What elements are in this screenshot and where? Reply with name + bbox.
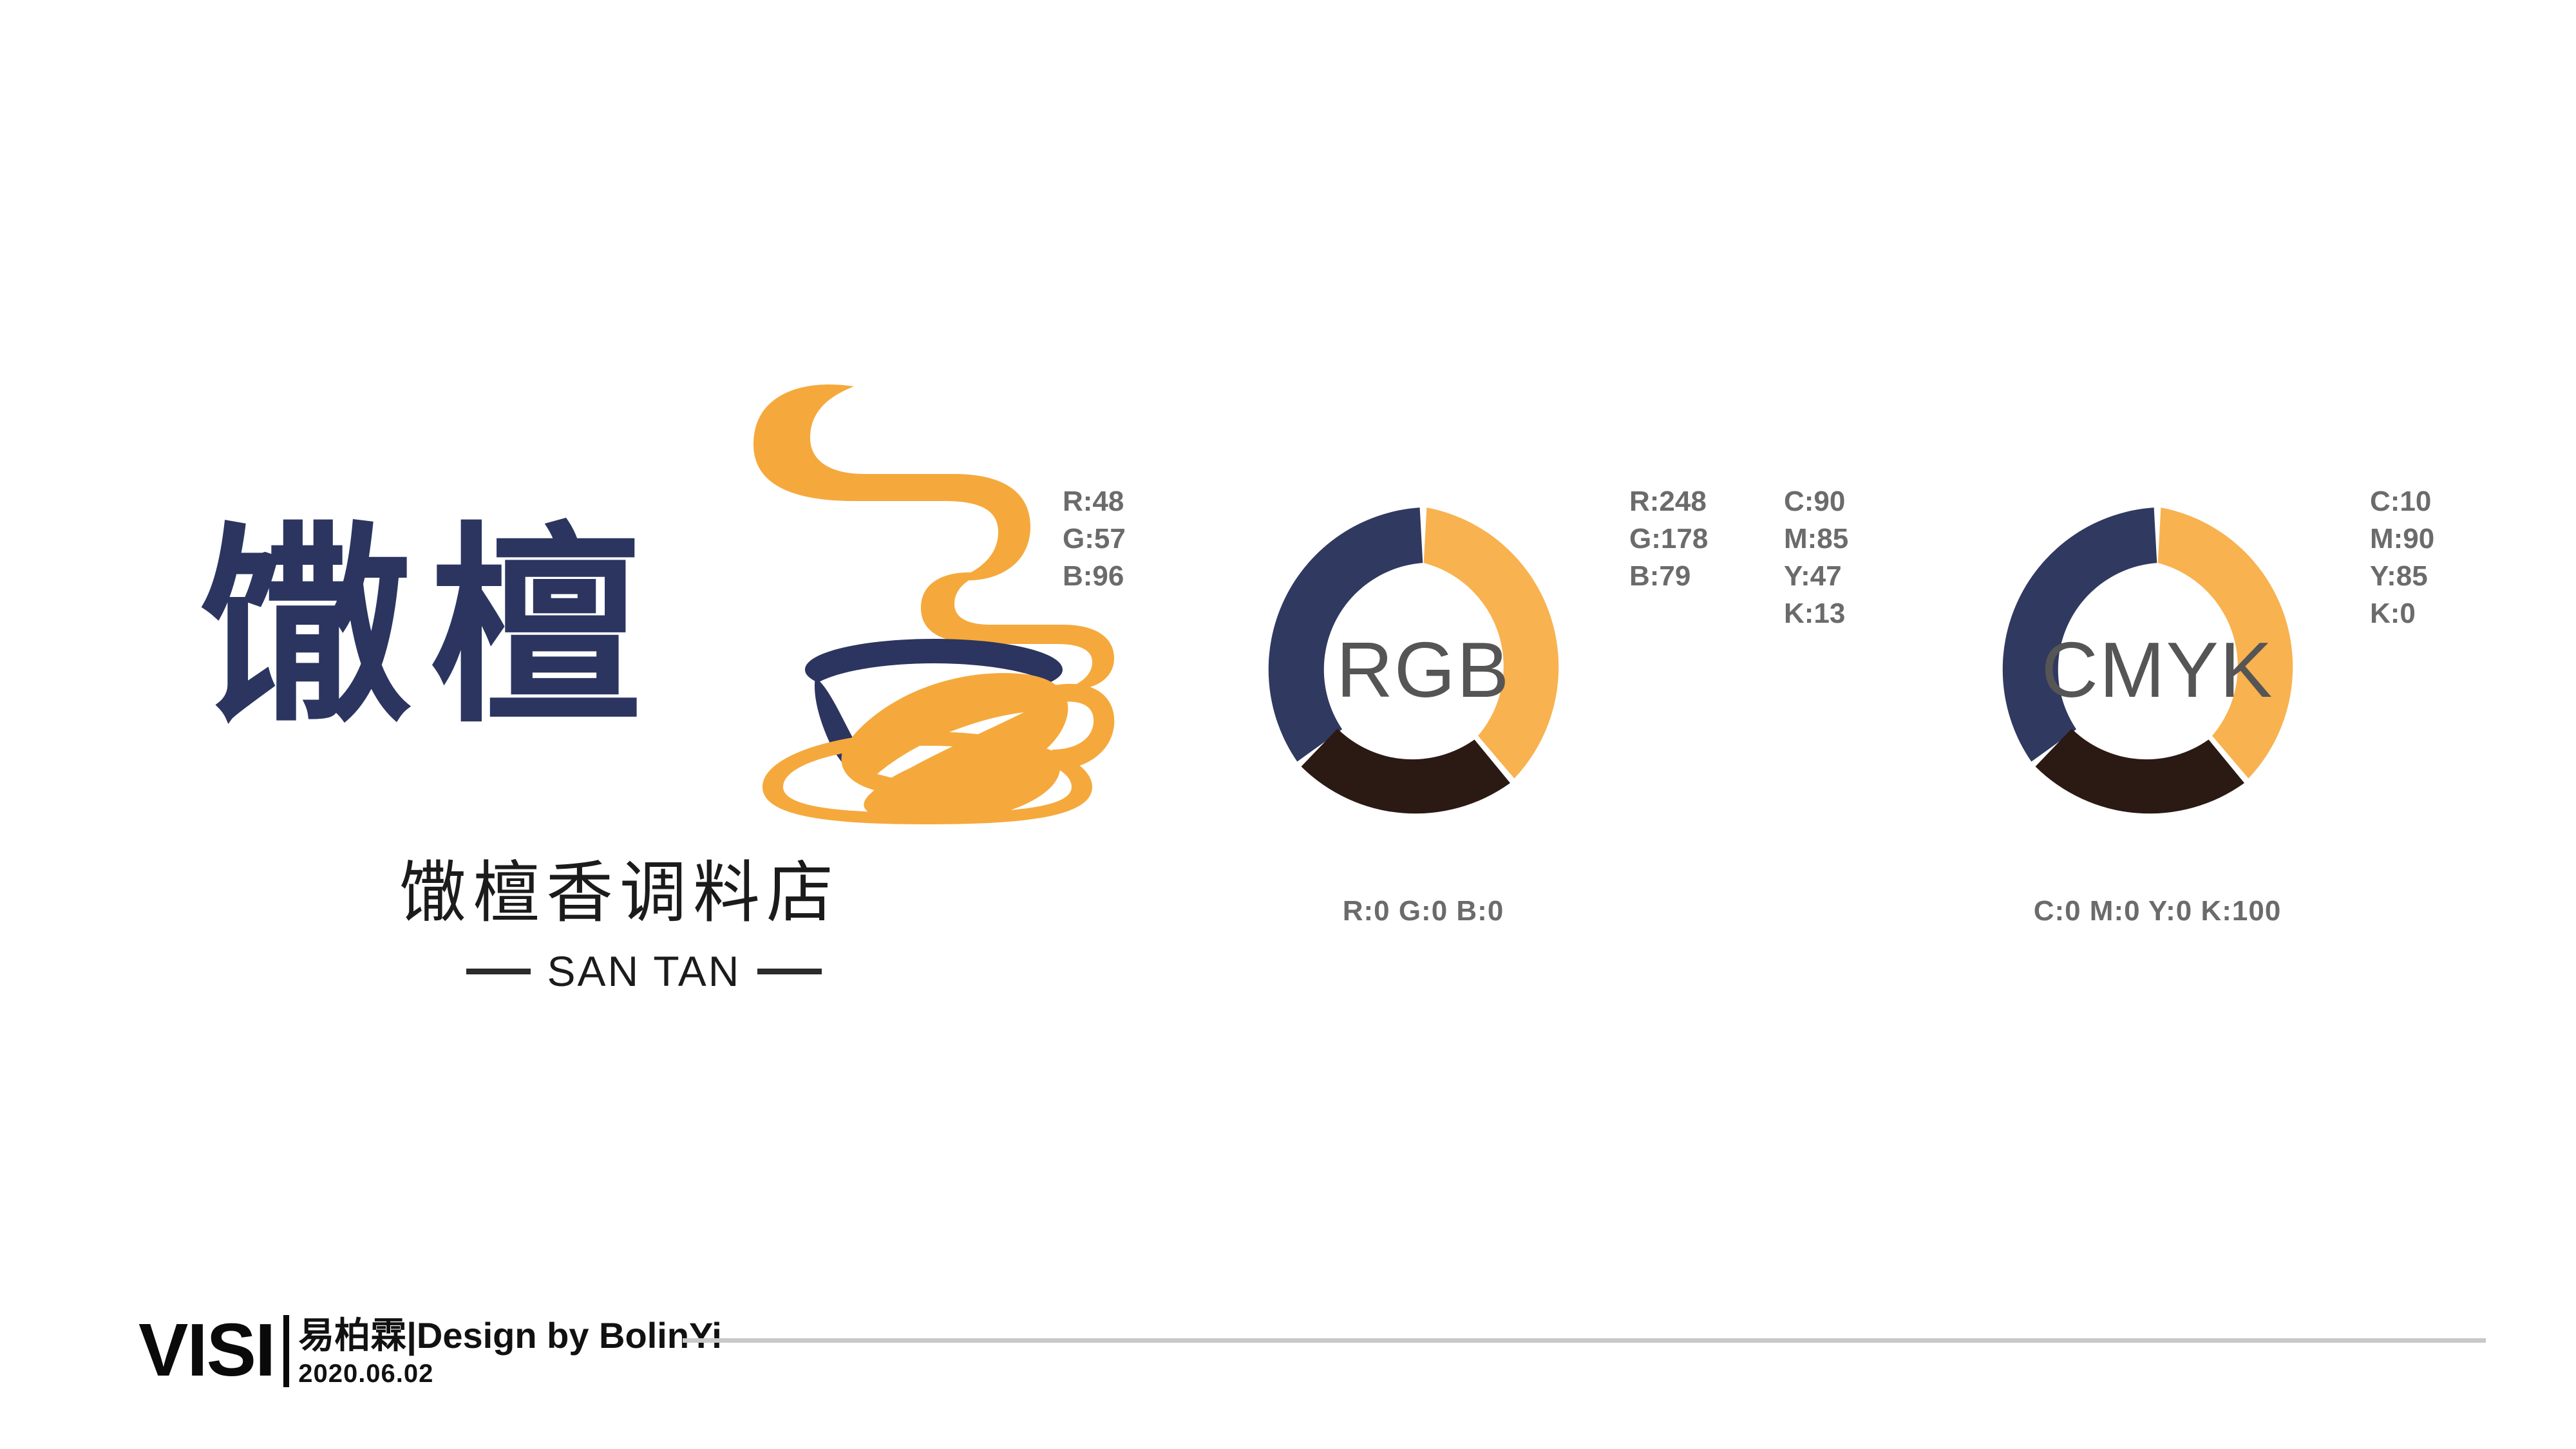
brand-wordmark: 馓檀	[200, 522, 658, 734]
cmyk-navy-y: Y:47	[1784, 558, 1848, 595]
brand-tagline: 馓檀香调料店	[399, 857, 840, 929]
page-footer: VISI 易柏霖|Design by BolinYi 2020.06.02	[0, 1307, 2576, 1430]
cmyk-donut-chart: CMYK	[1964, 477, 2351, 863]
rgb-navy-r: R:48	[1063, 483, 1126, 520]
steam-upper-path	[753, 384, 1030, 580]
footer-credit-separator: |	[406, 1315, 417, 1356]
footer-horizontal-rule	[683, 1338, 2486, 1343]
brand-subline-text: SAN TAN	[547, 947, 741, 996]
rgb-navy-values: R:48 G:57 B:96	[1063, 483, 1126, 595]
rgb-segment-navy	[1269, 507, 1423, 762]
cmyk-segment-orange	[2158, 507, 2293, 779]
rgb-orange-r: R:248	[1629, 483, 1708, 520]
footer-divider-bar	[283, 1315, 289, 1387]
brand-subline: SAN TAN	[419, 947, 869, 996]
footer-text-column: 易柏霖|Design by BolinYi 2020.06.02	[298, 1316, 722, 1389]
cmyk-navy-c: C:90	[1784, 483, 1848, 520]
cmyk-navy-values: C:90 M:85 Y:47 K:13	[1784, 483, 1848, 632]
footer-credit-cn: 易柏霖	[298, 1315, 406, 1357]
rgb-navy-b: B:96	[1063, 558, 1126, 595]
rgb-orange-b: B:79	[1629, 558, 1708, 595]
cmyk-navy-m: M:85	[1784, 520, 1848, 558]
color-swatch-cmyk: C:90 M:85 Y:47 K:13 C:10 M:90 Y:85 K:0 C…	[1868, 451, 2447, 1018]
cmyk-black-values: C:0 M:0 Y:0 K:100	[1868, 895, 2447, 927]
rgb-donut-svg	[1230, 477, 1616, 863]
rgb-segment-dark	[1302, 729, 1511, 814]
brand-lockup: 馓檀 馓檀香调料店 SAN TAN	[193, 348, 1127, 1043]
footer-credit-en: Design by BolinYi	[417, 1315, 722, 1356]
footer-date: 2020.06.02	[298, 1358, 722, 1389]
cmyk-orange-c: C:10	[2370, 483, 2434, 520]
cmyk-orange-y: Y:85	[2370, 558, 2434, 595]
cmyk-segment-navy	[2003, 507, 2157, 762]
cmyk-orange-m: M:90	[2370, 520, 2434, 558]
rgb-orange-g: G:178	[1629, 520, 1708, 558]
cmyk-donut-svg	[1964, 477, 2351, 863]
cmyk-orange-k: K:0	[2370, 595, 2434, 632]
cmyk-segment-dark	[2036, 729, 2245, 814]
rgb-donut-chart: RGB	[1230, 477, 1616, 863]
color-swatch-rgb: R:48 G:57 B:96 R:248 G:178 B:79 RGB R:0 …	[1133, 451, 1713, 1018]
subline-rule-left	[466, 969, 531, 974]
rgb-orange-values: R:248 G:178 B:79	[1629, 483, 1708, 595]
rgb-black-values: R:0 G:0 B:0	[1133, 895, 1713, 927]
footer-visi-logo: VISI	[138, 1314, 274, 1386]
subline-rule-right	[757, 969, 822, 974]
rgb-segment-orange	[1424, 507, 1559, 779]
cmyk-navy-k: K:13	[1784, 595, 1848, 632]
cmyk-orange-values: C:10 M:90 Y:85 K:0	[2370, 483, 2434, 632]
footer-credit-block: VISI 易柏霖|Design by BolinYi 2020.06.02	[138, 1314, 722, 1389]
rgb-navy-g: G:57	[1063, 520, 1126, 558]
footer-credit-line: 易柏霖|Design by BolinYi	[298, 1316, 722, 1356]
